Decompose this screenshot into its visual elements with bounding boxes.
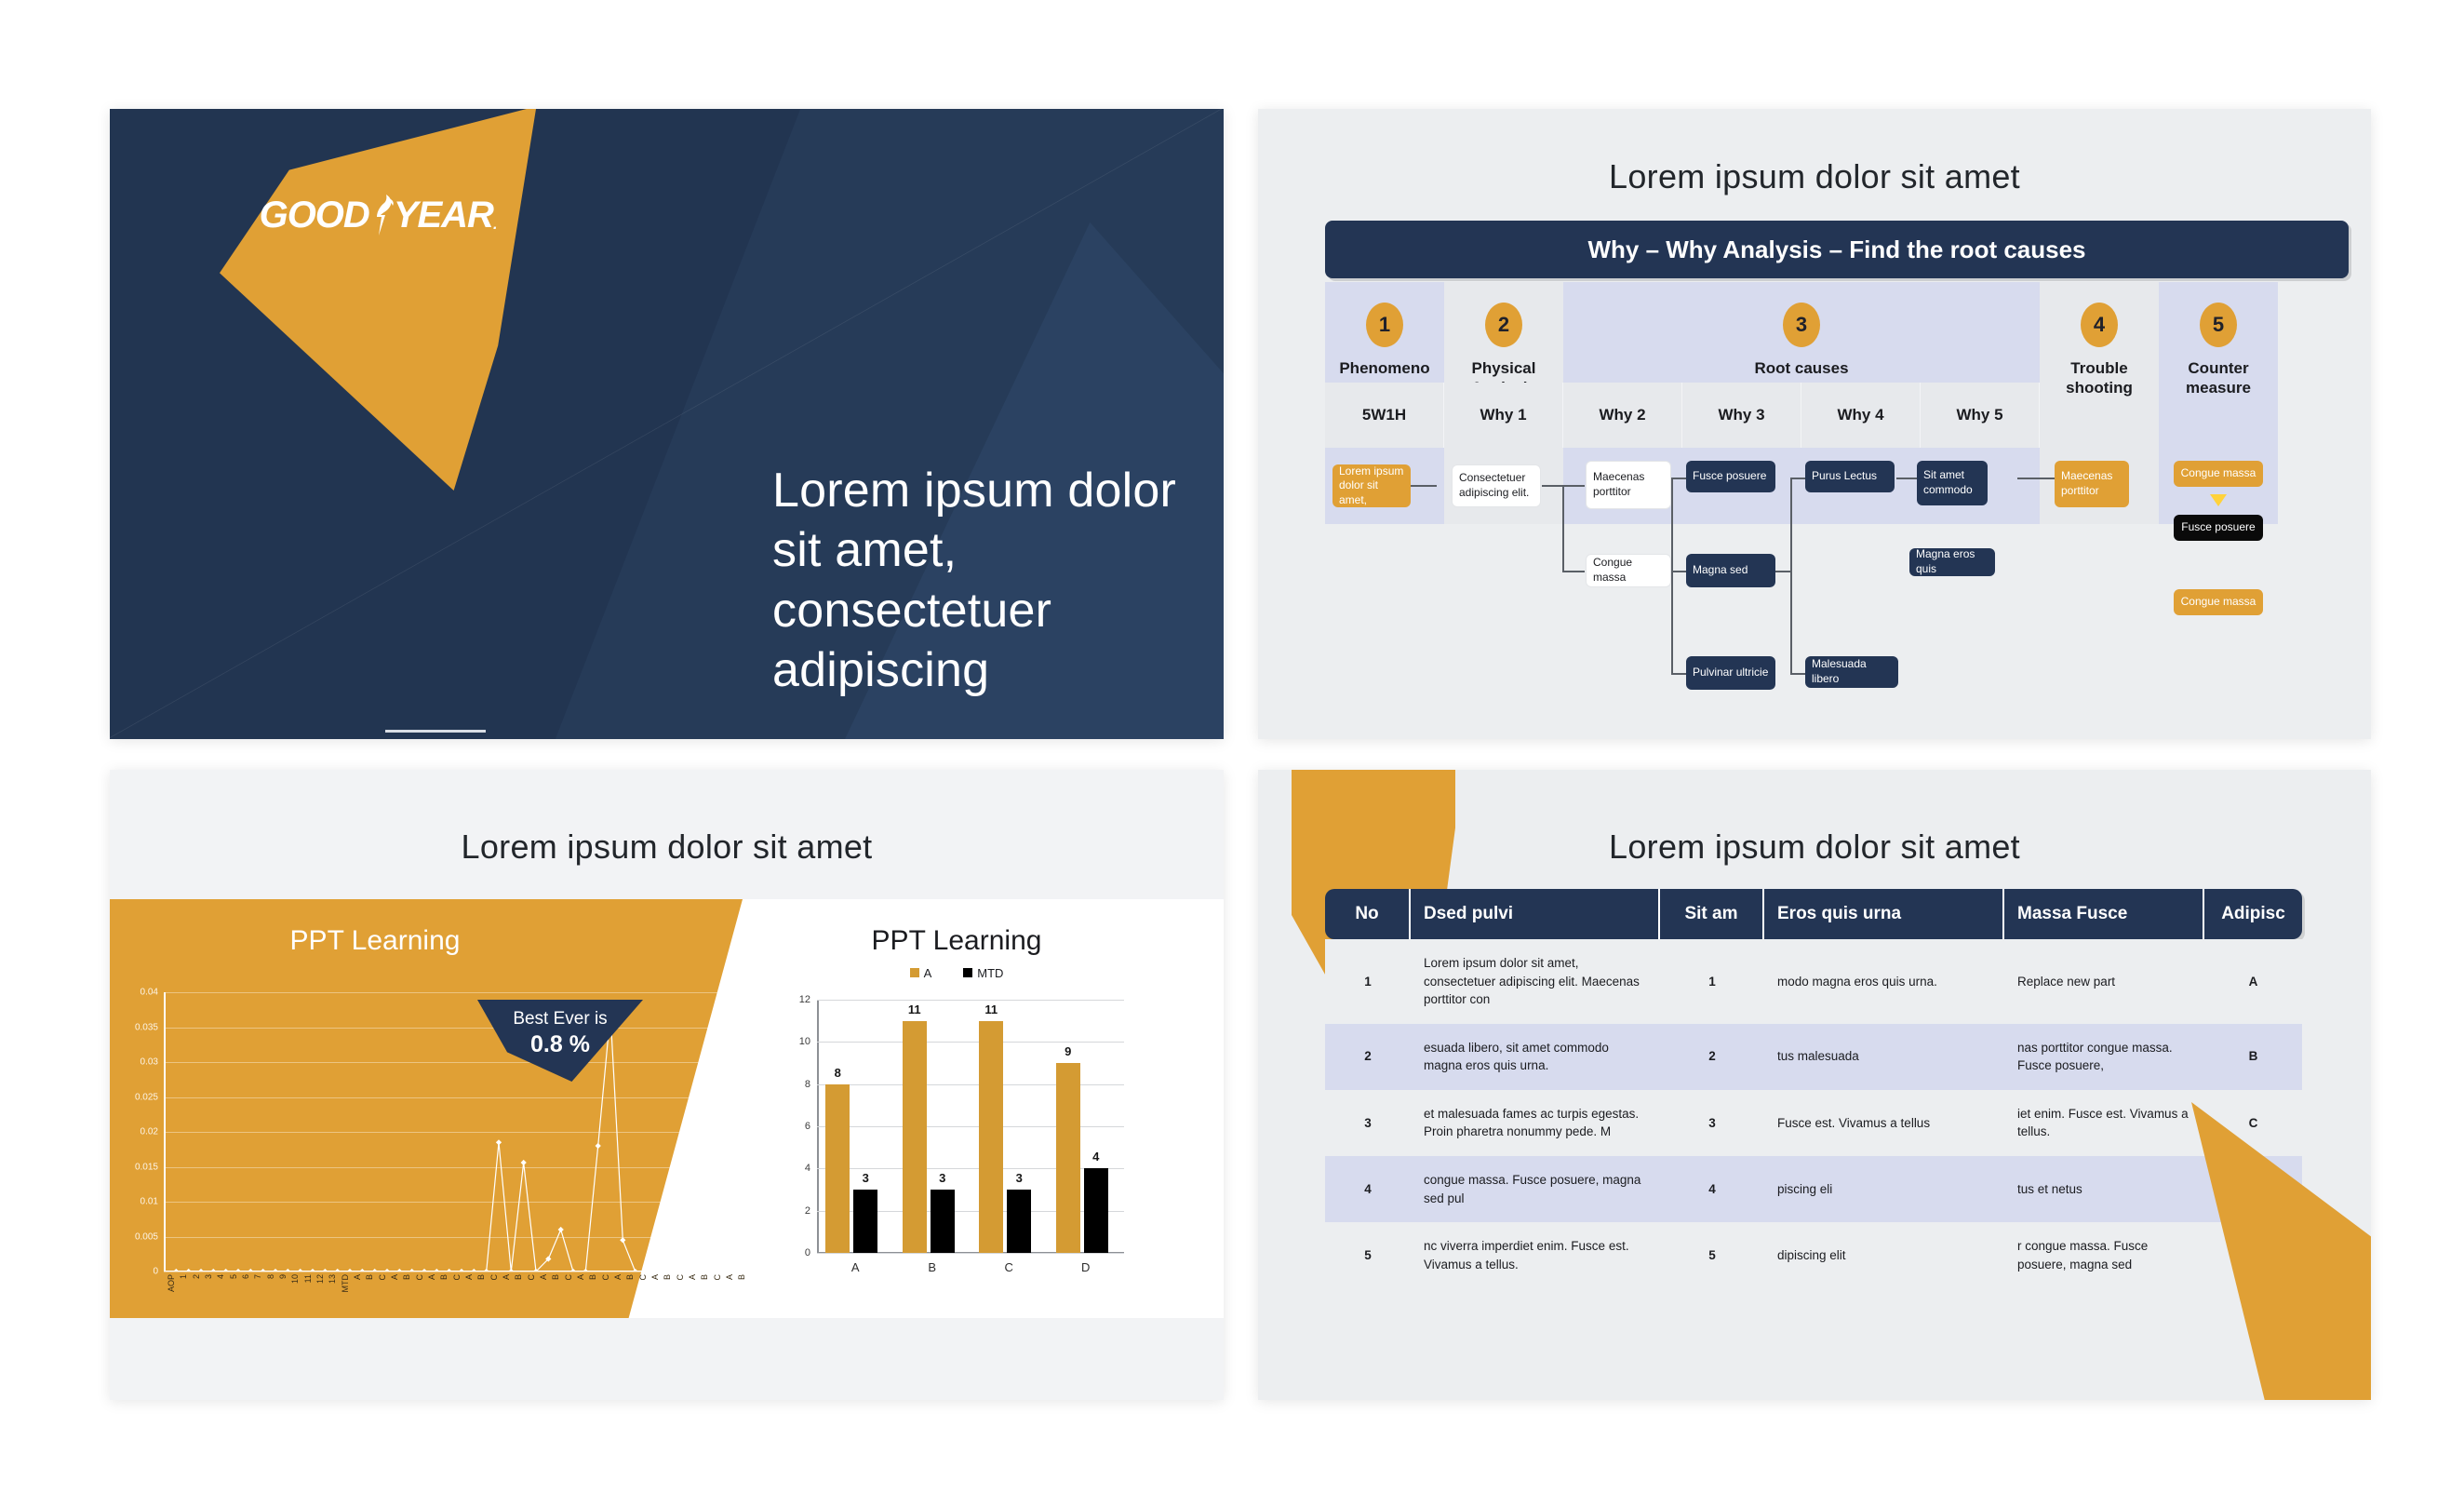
y-tick-label: 12 <box>799 994 810 1005</box>
bar-chart-legend: A MTD <box>761 966 1152 980</box>
node-why4-b[interactable]: Malesuada libero <box>1805 656 1898 688</box>
legend-label-a: A <box>924 966 932 980</box>
x-tick-label: 10 <box>290 1274 300 1284</box>
legend-swatch-mtd <box>963 968 972 977</box>
connector <box>1790 673 1805 675</box>
y-tick-label: 0.025 <box>135 1092 158 1102</box>
logo-text-year: YEAR <box>394 195 493 236</box>
bar-value-label: 4 <box>1092 1150 1099 1164</box>
y-tick-label: 0.01 <box>141 1197 158 1207</box>
page-title: Lorem ipsum dolor sit amet, consectetuer… <box>772 461 1210 701</box>
x-tick-label: B <box>365 1274 374 1280</box>
x-tick-label: 11 <box>303 1274 313 1283</box>
table-body: 1Lorem ipsum dolor sit amet, consectetue… <box>1325 939 2302 1288</box>
table-cell-eros: tus malesuada <box>1764 1024 2004 1090</box>
why-header-1: Why 1 <box>1444 383 1563 448</box>
table-cell-desc: congue massa. Fusce posuere, magna sed p… <box>1411 1156 1660 1222</box>
table-cell-massa: Replace new part <box>2004 939 2204 1024</box>
slide-charts: Lorem ipsum dolor sit amet PPT Learning … <box>110 770 1224 1400</box>
y-tick-label: 10 <box>799 1036 810 1047</box>
table-cell-adipisc: A <box>2204 939 2302 1024</box>
x-tick-label: B <box>551 1274 560 1280</box>
x-tick-label: C <box>1005 1260 1013 1274</box>
analysis-banner: Why – Why Analysis – Find the root cause… <box>1325 221 2349 278</box>
table-cell-eros: Fusce est. Vivamus a tellus <box>1764 1090 2004 1156</box>
table-cell-desc: esuada libero, sit amet commodo magna er… <box>1411 1024 1660 1090</box>
x-tick-label: 13 <box>328 1274 337 1284</box>
line-chart-title: PPT Learning <box>221 925 529 957</box>
y-tick-label: 6 <box>805 1121 810 1132</box>
connector <box>1790 478 1792 675</box>
table-cell-massa: r congue massa. Fusce posuere, magna sed <box>2004 1222 2204 1288</box>
x-tick-label: C <box>676 1274 685 1281</box>
x-tick-label: C <box>415 1274 424 1281</box>
connector <box>1542 485 1562 487</box>
table-cell-no: 4 <box>1325 1156 1411 1222</box>
x-tick-label: A <box>725 1274 734 1280</box>
connector <box>1562 485 1564 571</box>
table-row[interactable]: 1Lorem ipsum dolor sit amet, consectetue… <box>1325 939 2302 1024</box>
x-tick-label: B <box>588 1274 597 1280</box>
node-why5-a[interactable]: Sit amet commodo <box>1917 461 1988 505</box>
bar-A-C: 11 <box>979 1021 1003 1253</box>
gridline <box>817 1000 1124 1001</box>
x-tick-label: B <box>737 1274 746 1280</box>
slide-table: Lorem ipsum dolor sit amet No Dsed pulvi… <box>1258 770 2371 1400</box>
x-tick-label: C <box>378 1274 387 1281</box>
why-header-4: Why 4 <box>1801 383 1921 448</box>
charts-panel: PPT Learning PPT Learning A MTD 00.0050.… <box>110 899 1224 1318</box>
y-tick-label: 4 <box>805 1163 810 1174</box>
node-why3-a[interactable]: Fusce posuere <box>1686 461 1775 492</box>
bar-value-label: 3 <box>1016 1171 1023 1185</box>
connector <box>1562 485 1585 487</box>
stage-number: 1 <box>1366 303 1403 347</box>
table-cell-massa: tus et netus <box>2004 1156 2204 1222</box>
column-header-desc: Dsed pulvi <box>1411 889 1660 939</box>
x-tick-label: B <box>625 1274 635 1280</box>
slide-why-why-analysis: Lorem ipsum dolor sit amet Why – Why Ana… <box>1258 109 2371 739</box>
table-cell-desc: Lorem ipsum dolor sit amet, consectetuer… <box>1411 939 1660 1024</box>
y-tick-label: 0.03 <box>141 1057 158 1068</box>
line-chart-series <box>164 992 722 1272</box>
logo-registered-mark: . <box>493 217 496 234</box>
why-header-5w1h: 5W1H <box>1325 383 1444 448</box>
connector <box>1411 485 1437 487</box>
x-tick-label: 2 <box>192 1274 201 1279</box>
bar-A-D: 9 <box>1056 1063 1080 1253</box>
x-tick-label: A <box>613 1274 623 1280</box>
table-cell-no: 2 <box>1325 1024 1411 1090</box>
table-cell-no: 1 <box>1325 939 1411 1024</box>
bar-value-label: 11 <box>984 1002 998 1016</box>
table-row[interactable]: 4congue massa. Fusce posuere, magna sed … <box>1325 1156 2302 1222</box>
stage-number: 4 <box>2081 303 2118 347</box>
title-rule <box>385 730 486 733</box>
x-tick-label: C <box>713 1274 722 1281</box>
legend-item-mtd: MTD <box>963 966 1003 980</box>
slide2-title: Lorem ipsum dolor sit amet <box>1258 157 2371 196</box>
x-tick-label: C <box>601 1274 610 1281</box>
x-tick-label: C <box>489 1274 499 1281</box>
gridline <box>817 1042 1124 1043</box>
stage-3: 3 Root causes <box>1563 282 2040 378</box>
x-tick-label: 12 <box>315 1274 325 1284</box>
stage-label: Phenomeno <box>1339 358 1429 378</box>
legend-item-a: A <box>910 966 932 980</box>
x-tick-label: MTD <box>341 1274 350 1293</box>
x-tick-label: B <box>928 1260 936 1274</box>
connector <box>1562 571 1585 572</box>
table-cell-eros: dipiscing elit <box>1764 1222 2004 1288</box>
node-why1[interactable]: Consectetuer adipiscing elit. <box>1452 464 1541 507</box>
x-tick-label: A <box>539 1274 548 1280</box>
stage-4: 4 Trouble shooting <box>2040 282 2159 398</box>
y-tick-label: 0.035 <box>135 1022 158 1032</box>
gridline <box>817 1253 1124 1254</box>
x-tick-label: A <box>390 1274 399 1280</box>
table-cell-desc: nc viverra imperdiet enim. Fusce est. Vi… <box>1411 1222 1660 1288</box>
y-tick-label: 2 <box>805 1205 810 1217</box>
stage-label: Trouble shooting <box>2040 358 2159 398</box>
x-tick-label: A <box>464 1274 474 1280</box>
node-why4-a[interactable]: Purus Lectus <box>1805 461 1895 492</box>
winged-foot-icon <box>368 193 395 237</box>
x-tick-label: A <box>502 1274 511 1280</box>
table-cell-sit: 5 <box>1660 1222 1764 1288</box>
stage-5: 5 Counter measure <box>2159 282 2278 398</box>
arrow-down-icon <box>2210 494 2227 506</box>
slide-title: GOOD YEAR . Lorem ipsum dolor sit amet, … <box>110 109 1224 739</box>
table-cell-eros: modo magna eros quis urna. <box>1764 939 2004 1024</box>
x-tick-label: 8 <box>266 1274 275 1279</box>
connector <box>1896 478 1917 479</box>
node-phenomeno[interactable]: Lorem ipsum dolor sit amet, <box>1332 464 1411 507</box>
table-header-row: No Dsed pulvi Sit am Eros quis urna Mass… <box>1325 889 2302 939</box>
legend-label-mtd: MTD <box>977 966 1003 980</box>
y-tick-label: 0 <box>153 1267 158 1277</box>
x-tick-label: 9 <box>278 1274 288 1279</box>
table-cell-eros: piscing eli <box>1764 1156 2004 1222</box>
table-row[interactable]: 2esuada libero, sit amet commodo magna e… <box>1325 1024 2302 1090</box>
stage-number: 3 <box>1783 303 1820 347</box>
legend-swatch-a <box>910 968 919 977</box>
stage-1: 1 Phenomeno <box>1325 282 1444 378</box>
goodyear-logo: GOOD YEAR . <box>248 185 508 245</box>
why-header-3: Why 3 <box>1682 383 1801 448</box>
column-header-no: No <box>1325 889 1411 939</box>
bar-MTD-C: 3 <box>1007 1190 1031 1253</box>
bar-MTD-D: 4 <box>1084 1168 1108 1253</box>
table-cell-sit: 2 <box>1660 1024 1764 1090</box>
x-tick-label: D <box>1081 1260 1090 1274</box>
table-cell-desc: et malesuada fames ac turpis egestas. Pr… <box>1411 1090 1660 1156</box>
connector <box>1790 478 1805 479</box>
why-header-2: Why 2 <box>1563 383 1682 448</box>
x-tick-label: C <box>527 1274 536 1281</box>
x-tick-label: A <box>576 1274 585 1280</box>
y-tick-label: 0.02 <box>141 1127 158 1137</box>
x-tick-label: B <box>402 1274 411 1280</box>
logo-text-good: GOOD <box>260 195 369 236</box>
y-tick-label: 0.04 <box>141 988 158 998</box>
x-tick-label: A <box>688 1274 697 1280</box>
table-cell-sit: 3 <box>1660 1090 1764 1156</box>
bar-value-label: 8 <box>835 1066 841 1080</box>
stage-number: 2 <box>1485 303 1522 347</box>
x-tick-label: B <box>700 1274 709 1280</box>
node-why2-b[interactable]: Congue massa <box>1586 554 1671 587</box>
node-why3-c[interactable]: Pulvinar ultricie <box>1686 656 1775 690</box>
x-tick-label: 3 <box>204 1274 213 1279</box>
connector <box>1671 478 1673 675</box>
y-tick-label: 0.015 <box>135 1162 158 1172</box>
bar-value-label: 9 <box>1065 1044 1071 1058</box>
y-tick-label: 0.005 <box>135 1231 158 1242</box>
bar-A-B: 11 <box>903 1021 927 1253</box>
bar-value-label: 3 <box>863 1171 869 1185</box>
why-why-grid: 1 Phenomeno 2 Physical Analysis 3 Root c… <box>1325 282 2349 697</box>
slide3-title: Lorem ipsum dolor sit amet <box>110 828 1224 867</box>
bar-A-A: 8 <box>825 1084 850 1253</box>
connector <box>2017 478 2055 479</box>
table-row[interactable]: 5nc viverra imperdiet enim. Fusce est. V… <box>1325 1222 2302 1288</box>
column-header-sit: Sit am <box>1660 889 1764 939</box>
bar-chart: 024681012 83A113B113C94D <box>817 1000 1124 1253</box>
x-tick-label: C <box>638 1274 648 1281</box>
node-trouble-shooting[interactable]: Maecenas porttitor <box>2055 461 2129 507</box>
table-cell-massa: iet enim. Fusce est. Vivamus a tellus. <box>2004 1090 2204 1156</box>
x-tick-label: 7 <box>253 1274 262 1279</box>
y-tick-label: 8 <box>805 1079 810 1090</box>
stage-label: Root causes <box>1754 358 1848 378</box>
x-tick-label: A <box>427 1274 436 1280</box>
node-counter-mid[interactable]: Fusce posuere <box>2174 515 2263 541</box>
table-cell-no: 3 <box>1325 1090 1411 1156</box>
node-why5-b[interactable]: Magna eros quis <box>1909 548 1995 576</box>
table-cell-sit: 1 <box>1660 939 1764 1024</box>
slide-deck: GOOD YEAR . Lorem ipsum dolor sit amet, … <box>0 0 2464 1507</box>
x-tick-label: A <box>650 1274 660 1280</box>
stage-2: 2 Physical Analysis <box>1444 282 1563 398</box>
why-header-5: Why 5 <box>1921 383 2040 448</box>
bar-value-label: 11 <box>908 1002 921 1016</box>
callout-line-1: Best Ever is <box>477 1009 643 1029</box>
connector <box>1671 571 1686 572</box>
x-tick-label: 5 <box>229 1274 238 1279</box>
node-counter-top[interactable]: Congue massa <box>2174 461 2263 487</box>
gridline <box>164 1272 722 1272</box>
connector <box>1671 673 1686 675</box>
bar-MTD-A: 3 <box>853 1190 877 1253</box>
y-tick-label: 0 <box>805 1247 810 1258</box>
x-tick-label: C <box>452 1274 462 1281</box>
data-table: No Dsed pulvi Sit am Eros quis urna Mass… <box>1325 889 2302 1288</box>
column-header-massa: Massa Fusce <box>2004 889 2204 939</box>
bar-value-label: 3 <box>939 1171 945 1185</box>
x-tick-label: B <box>439 1274 449 1280</box>
column-header-adipisc: Adipisc <box>2204 889 2302 939</box>
node-why2-a[interactable]: Maecenas porttitor <box>1586 461 1671 509</box>
table-cell-adipisc: B <box>2204 1024 2302 1090</box>
x-tick-label: A <box>851 1260 860 1274</box>
node-why3-b[interactable]: Magna sed <box>1686 554 1775 587</box>
bar-MTD-B: 3 <box>931 1190 955 1253</box>
x-tick-label: 4 <box>216 1274 225 1279</box>
connector <box>1671 478 1686 479</box>
table-cell-sit: 4 <box>1660 1156 1764 1222</box>
stage-number: 5 <box>2200 303 2237 347</box>
x-tick-label: 1 <box>179 1274 188 1279</box>
bar-chart-title: PPT Learning <box>761 925 1152 957</box>
stage-label: Counter measure <box>2159 358 2278 398</box>
x-tick-label: B <box>476 1274 486 1280</box>
table-cell-massa: nas porttitor congue massa. Fusce posuer… <box>2004 1024 2204 1090</box>
x-tick-label: AOP <box>167 1274 176 1292</box>
table-cell-no: 5 <box>1325 1222 1411 1288</box>
x-tick-label: 6 <box>241 1274 250 1279</box>
slide4-title: Lorem ipsum dolor sit amet <box>1258 828 2371 867</box>
table-row[interactable]: 3et malesuada fames ac turpis egestas. P… <box>1325 1090 2302 1156</box>
x-tick-label: C <box>564 1274 573 1281</box>
x-tick-label: B <box>663 1274 672 1280</box>
x-tick-label: B <box>514 1274 523 1280</box>
node-counter-bottom[interactable]: Congue massa <box>2174 589 2263 615</box>
x-tick-label: A <box>353 1274 362 1280</box>
line-chart: 00.0050.010.0150.020.0250.030.0350.04 AO… <box>164 992 722 1272</box>
column-header-eros: Eros quis urna <box>1764 889 2004 939</box>
